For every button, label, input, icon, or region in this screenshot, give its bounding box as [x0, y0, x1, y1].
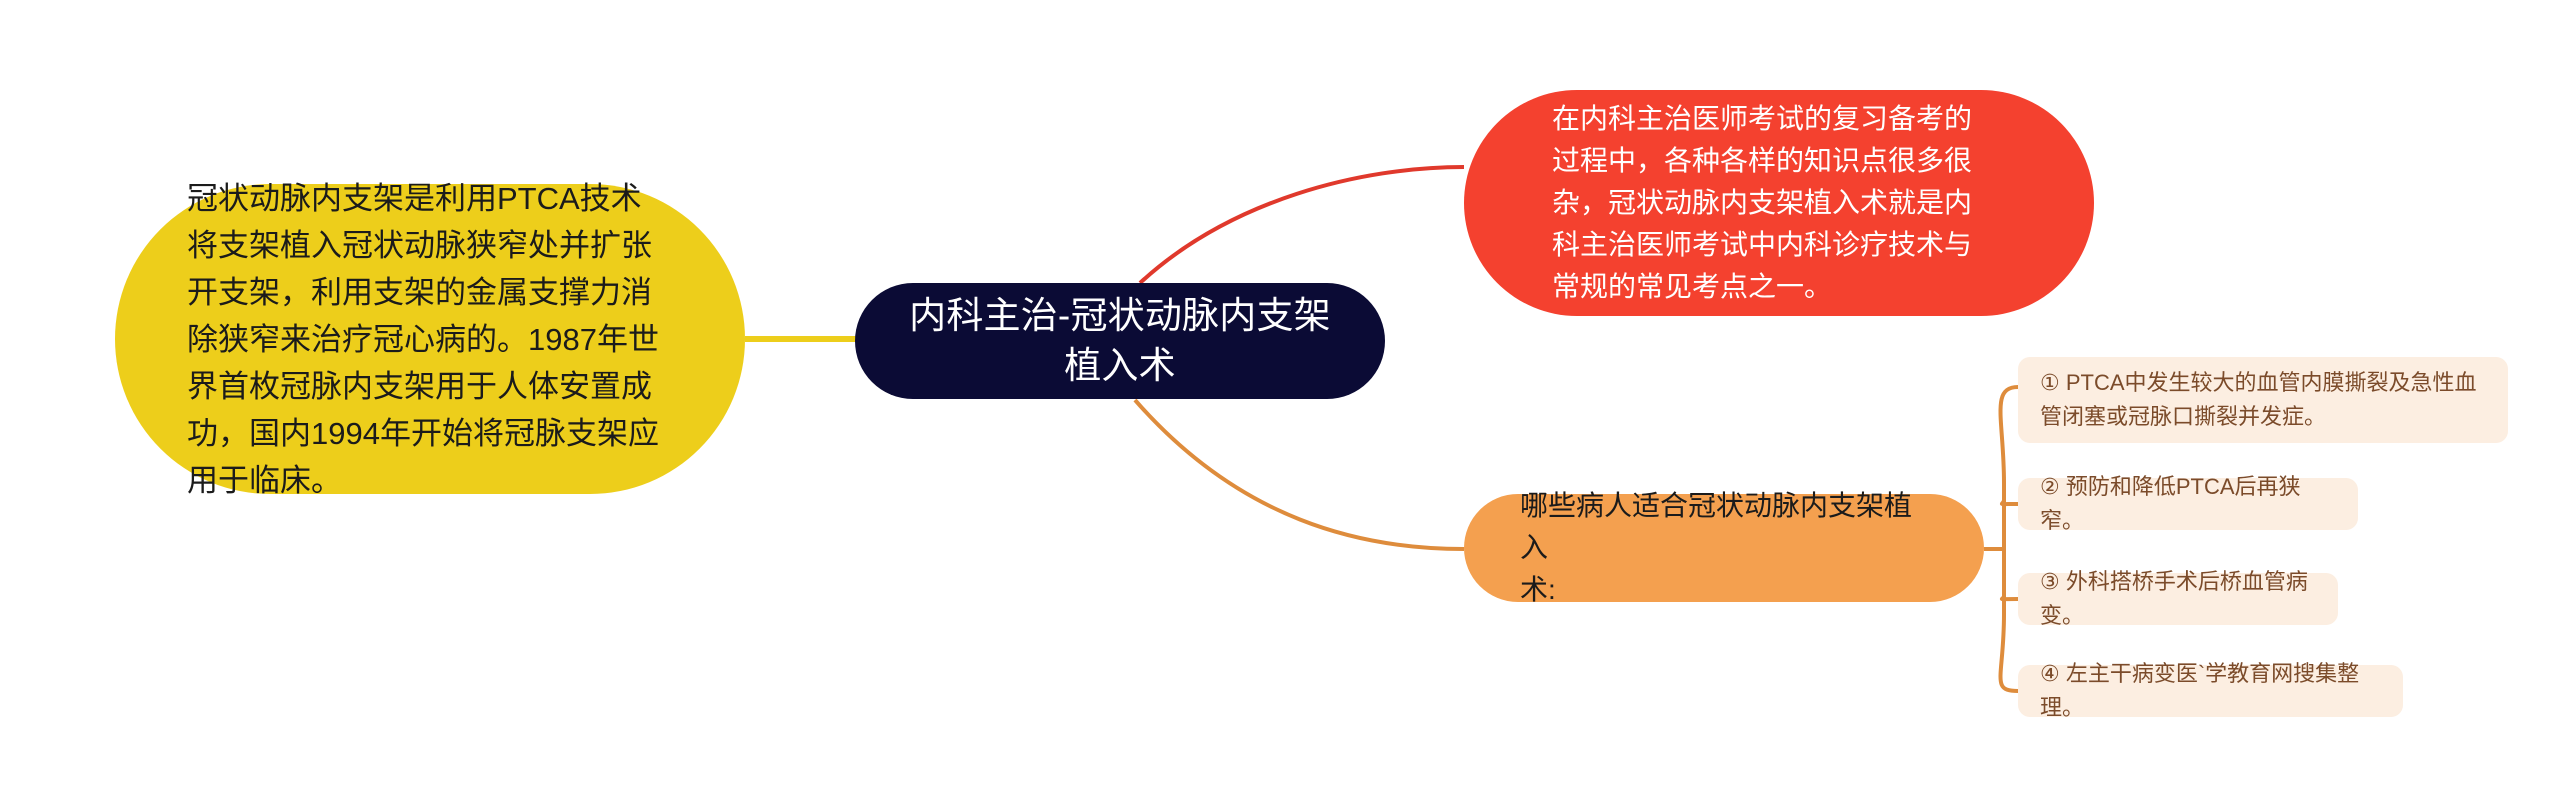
edge-orange-to-leaf-1	[2001, 387, 2019, 483]
edge-center-to-red	[1140, 167, 1464, 283]
leaf-node-3[interactable]: ③ 外科搭桥手术后桥血管病变。	[2018, 573, 2338, 625]
branch-node-red[interactable]: 在内科主治医师考试的复习备考的 过程中，各种各样的知识点很多很 杂，冠状动脉内支…	[1464, 90, 2094, 316]
mind-map-canvas: 内科主治-冠状动脉内支架 植入术 冠状动脉内支架是利用PTCA技术 将支架植入冠…	[0, 0, 2560, 802]
branch-node-yellow[interactable]: 冠状动脉内支架是利用PTCA技术 将支架植入冠状动脉狭窄处并扩张 开支架，利用支…	[115, 184, 745, 494]
edge-orange-to-leaf-2	[2002, 500, 2018, 504]
center-topic-label: 内科主治-冠状动脉内支架 植入术	[909, 291, 1331, 391]
branch-node-orange[interactable]: 哪些病人适合冠状动脉内支架植入 术:	[1464, 494, 1984, 602]
leaf-node-1[interactable]: ① PTCA中发生较大的血管内膜撕裂及急性血 管闭塞或冠脉口撕裂并发症。	[2018, 357, 2508, 443]
leaf-label-3: ③ 外科搭桥手术后桥血管病变。	[2040, 565, 2316, 633]
leaf-label-2: ② 预防和降低PTCA后再狭窄。	[2040, 470, 2336, 538]
branch-label-yellow: 冠状动脉内支架是利用PTCA技术 将支架植入冠状动脉狭窄处并扩张 开支架，利用支…	[187, 175, 659, 504]
edge-center-to-orange	[1135, 400, 1464, 549]
leaf-label-4: ④ 左主干病变医`学教育网搜集整理。	[2040, 657, 2381, 725]
edge-orange-to-leaf-4	[2001, 614, 2019, 691]
leaf-node-4[interactable]: ④ 左主干病变医`学教育网搜集整理。	[2018, 665, 2403, 717]
leaf-label-1: ① PTCA中发生较大的血管内膜撕裂及急性血 管闭塞或冠脉口撕裂并发症。	[2040, 366, 2477, 434]
center-topic-node[interactable]: 内科主治-冠状动脉内支架 植入术	[855, 283, 1385, 399]
branch-label-orange: 哪些病人适合冠状动脉内支架植入 术:	[1520, 485, 1928, 611]
edge-orange-to-leaf-3	[2002, 596, 2018, 599]
leaf-node-2[interactable]: ② 预防和降低PTCA后再狭窄。	[2018, 478, 2358, 530]
branch-label-red: 在内科主治医师考试的复习备考的 过程中，各种各样的知识点很多很 杂，冠状动脉内支…	[1552, 98, 1972, 308]
